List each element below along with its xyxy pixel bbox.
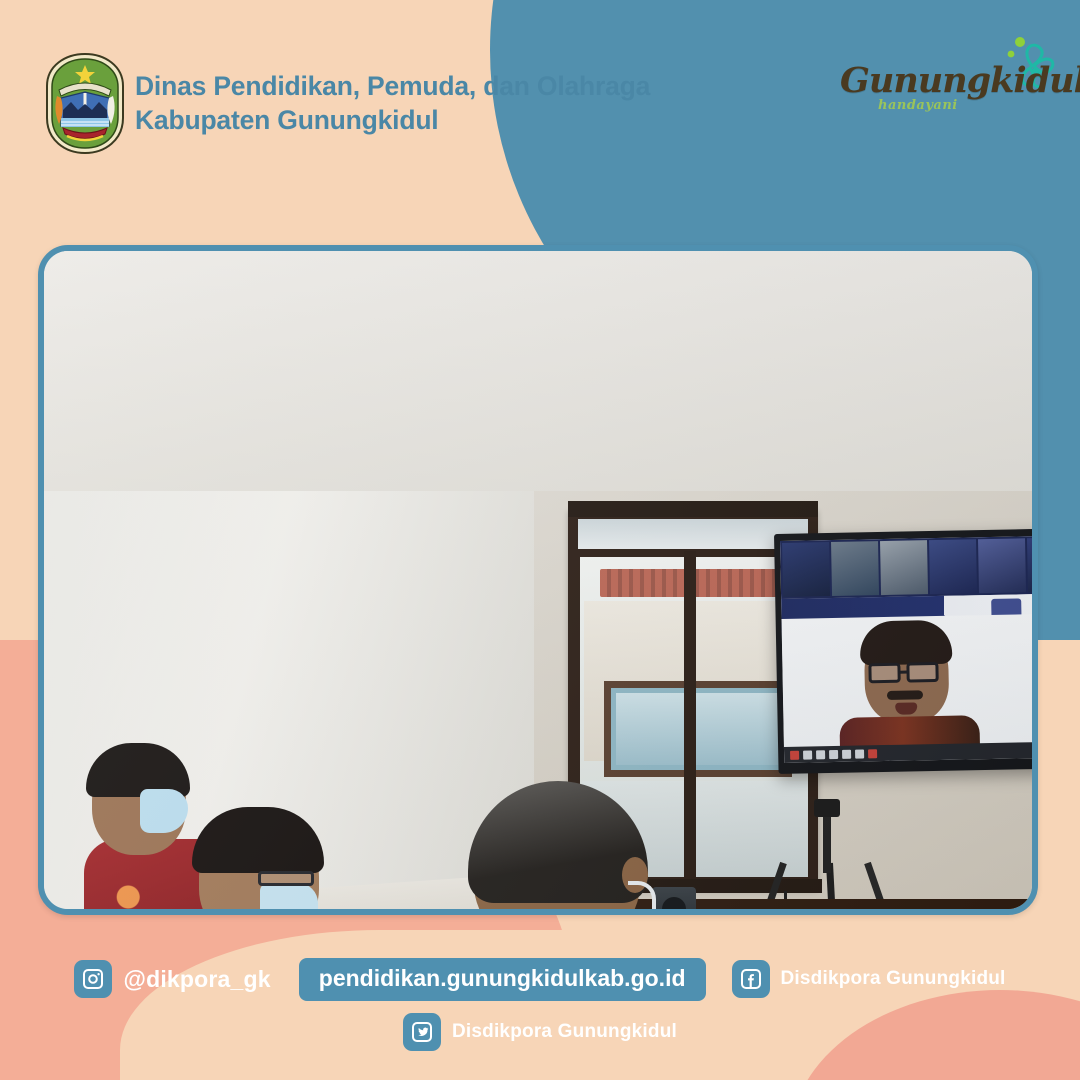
participant-thumbnail: [831, 541, 879, 596]
twitter-handle: Disdikpora Gunungkidul: [452, 1021, 677, 1043]
speaker-cone: [662, 897, 686, 915]
org-title-line2: Kabupaten Gunungkidul: [135, 104, 695, 138]
twitter-icon[interactable]: [403, 1013, 441, 1051]
window-frame-top: [568, 501, 818, 517]
attendee-two-eyeglasses: [258, 871, 314, 886]
paper-sheet: [310, 913, 435, 915]
participant-thumbnail: [782, 542, 830, 597]
toolbar-button: [803, 750, 812, 759]
toolbar-button: [868, 749, 877, 758]
page-title: Dinas Pendidikan, Pemuda, dan Olahraga K…: [135, 70, 695, 138]
toolbar-button: [855, 749, 864, 758]
facebook-link[interactable]: Disdikpora Gunungkidul: [732, 960, 1006, 998]
tripod-column: [823, 811, 831, 873]
participant-thumbnail: [1027, 537, 1038, 592]
event-photo: [38, 245, 1038, 915]
poster-canvas: Dinas Pendidikan, Pemuda, dan Olahraga K…: [0, 0, 1080, 1080]
toolbar-button: [816, 750, 825, 759]
video-call-participant-thumbnails: [780, 535, 1038, 599]
room-wall-upper: [44, 251, 1038, 491]
attendee-two-face-mask: [260, 883, 318, 915]
window-mullion: [684, 551, 696, 881]
speaker-eyeglasses-bridge: [900, 671, 909, 674]
facebook-page-name: Disdikpora Gunungkidul: [781, 968, 1006, 990]
speaker-hair: [860, 620, 953, 666]
twitter-link[interactable]: Disdikpora Gunungkidul: [403, 1013, 677, 1051]
social-links-row-secondary: Disdikpora Gunungkidul: [0, 1010, 1080, 1054]
speaker-eyeglasses-left: [868, 663, 900, 684]
instagram-link[interactable]: @dikpora_gk: [74, 960, 270, 998]
television-screen: [780, 535, 1038, 763]
toolbar-button: [829, 749, 838, 758]
gunungkidul-wordmark: Gunungkidul handayani: [840, 38, 1058, 130]
social-links-row-primary: @dikpora_gk pendidikan.gunungkidulkab.go…: [0, 955, 1080, 1003]
instagram-icon[interactable]: [74, 960, 112, 998]
gunungkidul-regency-crest-icon: [43, 52, 127, 156]
poster-header: Dinas Pendidikan, Pemuda, dan Olahraga K…: [0, 0, 1080, 200]
org-title-line1: Dinas Pendidikan, Pemuda, dan Olahraga: [135, 71, 650, 101]
speaker-eyeglasses-right: [906, 662, 938, 683]
background-peach-bottom: [120, 930, 880, 1080]
website-url[interactable]: pendidikan.gunungkidulkab.go.id: [299, 958, 706, 1001]
outside-roof-tiles: [600, 569, 796, 597]
participant-thumbnail: [978, 538, 1026, 593]
toolbar-button: [790, 750, 799, 759]
speaker-moustache: [887, 690, 923, 700]
participant-thumbnail: [929, 539, 977, 594]
facebook-icon[interactable]: [732, 960, 770, 998]
tripod-head: [814, 799, 840, 817]
wordmark-text: Gunungkidul: [840, 60, 1080, 101]
active-speaker-video: [781, 613, 1038, 749]
instagram-handle: @dikpora_gk: [123, 966, 270, 993]
participant-thumbnail: [880, 540, 928, 595]
outside-building-glass: [616, 693, 780, 765]
wordmark-tagline: handayani: [878, 98, 958, 113]
toolbar-button: [842, 749, 851, 758]
